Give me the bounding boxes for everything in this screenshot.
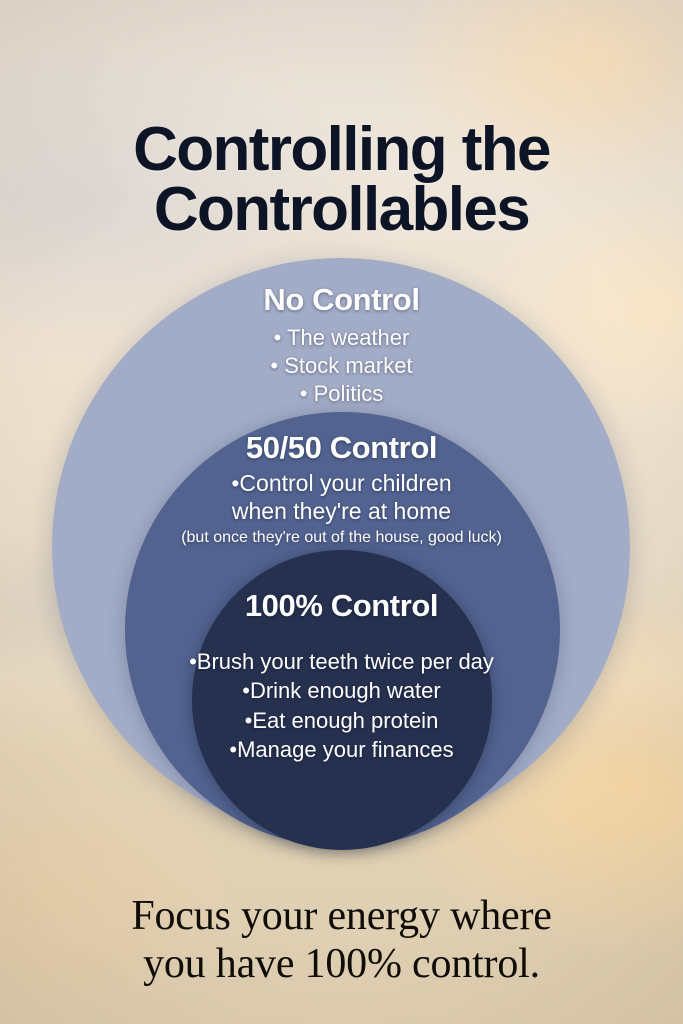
list-item: • Stock market — [0, 352, 683, 380]
list-item: • Politics — [0, 380, 683, 408]
no-control-heading: No Control — [0, 284, 683, 315]
full-control-text-block: 100% Control •Brush your teeth twice per… — [0, 590, 683, 764]
list-item: •Brush your teeth twice per day — [0, 647, 683, 676]
infographic-poster: Controlling the Controllables No Control… — [0, 0, 683, 1024]
full-control-list: •Brush your teeth twice per day •Drink e… — [0, 647, 683, 764]
list-item: •Manage your finances — [0, 735, 683, 764]
half-control-text-block: 50/50 Control •Control your children whe… — [0, 432, 683, 549]
list-item: •Drink enough water — [0, 676, 683, 705]
list-item: • The weather — [0, 324, 683, 352]
half-control-note-text: (but once they're out of the house, good… — [0, 528, 683, 549]
half-control-heading: 50/50 Control — [0, 432, 683, 463]
no-control-text-block: No Control • The weather • Stock market … — [0, 284, 683, 408]
no-control-list: • The weather • Stock market • Politics — [0, 324, 683, 408]
half-control-main-text: •Control your children when they're at h… — [0, 469, 683, 525]
list-item: •Eat enough protein — [0, 706, 683, 735]
footer-caption: Focus your energy where you have 100% co… — [0, 892, 683, 989]
full-control-heading: 100% Control — [0, 590, 683, 621]
